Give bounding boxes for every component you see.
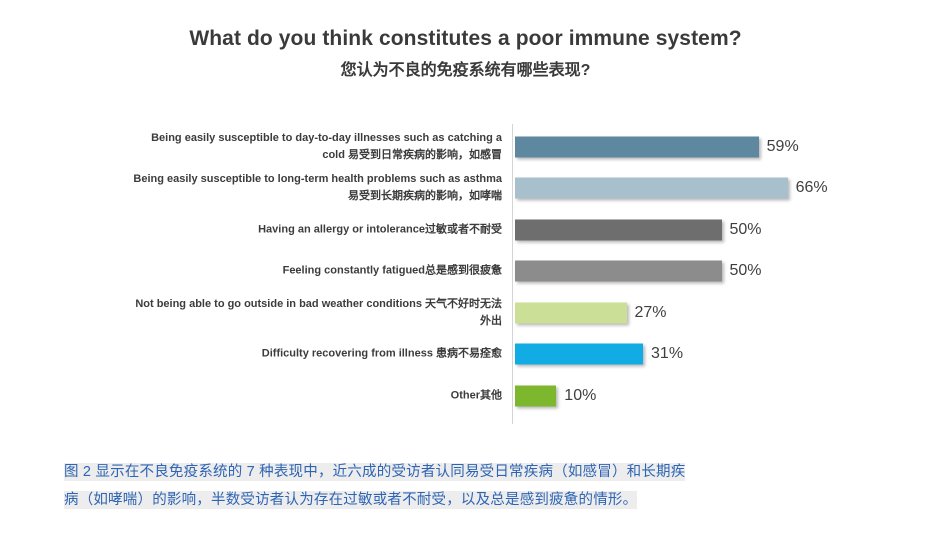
bar-category-label: Not being able to go outside in bad weat… (130, 295, 502, 329)
bar (515, 136, 759, 157)
bar (515, 385, 556, 406)
bar-category-label: Difficulty recovering from illness 患病不易痊… (130, 345, 502, 362)
bar-value-label: 59% (767, 138, 799, 156)
bar-value-label: 10% (564, 387, 596, 405)
bar-row: Other其他10% (0, 375, 931, 416)
bar-category-label: Being easily susceptible to long-term he… (130, 171, 502, 205)
bar (515, 219, 722, 240)
page-title-english: What do you think constitutes a poor imm… (0, 26, 931, 52)
figure-caption: 图 2 显示在不良免疫系统的 7 种表现中，近六成的受访者认同易受日常疾病（如感… (64, 458, 884, 515)
bar-row: Having an allergy or intolerance过敏或者不耐受5… (0, 209, 931, 250)
page-title-chinese: 您认为不良的免疫系统有哪些表现? (0, 61, 931, 81)
bar (515, 302, 627, 323)
caption-line-2-text: 病（如哮喘）的影响，半数受访者认为存在过敏或者不耐受，以及总是感到疲惫的情形。 (64, 491, 637, 509)
chart-title-block: What do you think constitutes a poor imm… (0, 26, 931, 81)
bar (515, 344, 643, 365)
bar-row: Not being able to go outside in bad weat… (0, 292, 931, 333)
caption-line-1-text: 图 2 显示在不良免疫系统的 7 种表现中，近六成的受访者认同易受日常疾病（如感… (64, 463, 685, 481)
bar-value-label: 66% (796, 179, 828, 197)
bar-value-label: 31% (651, 345, 683, 363)
bar-row: Difficulty recovering from illness 患病不易痊… (0, 334, 931, 375)
bar-row: Being easily susceptible to long-term he… (0, 168, 931, 209)
caption-line-1: 图 2 显示在不良免疫系统的 7 种表现中，近六成的受访者认同易受日常疾病（如感… (64, 458, 884, 486)
bar-row: Feeling constantly fatigued总是感到很疲惫50% (0, 251, 931, 292)
bar-category-label: Being easily susceptible to day-to-day i… (130, 129, 502, 163)
caption-line-2: 病（如哮喘）的影响，半数受访者认为存在过敏或者不耐受，以及总是感到疲惫的情形。 (64, 486, 884, 514)
bar (515, 178, 788, 199)
bar-value-label: 50% (730, 221, 762, 239)
bar-value-label: 50% (730, 262, 762, 280)
bar (515, 261, 722, 282)
bar-row: Being easily susceptible to day-to-day i… (0, 126, 931, 167)
bar-chart: Being easily susceptible to day-to-day i… (0, 118, 931, 428)
bar-category-label: Having an allergy or intolerance过敏或者不耐受 (130, 221, 502, 238)
bar-category-label: Other其他 (130, 387, 502, 404)
bar-category-label: Feeling constantly fatigued总是感到很疲惫 (130, 262, 502, 279)
bar-value-label: 27% (635, 304, 667, 322)
